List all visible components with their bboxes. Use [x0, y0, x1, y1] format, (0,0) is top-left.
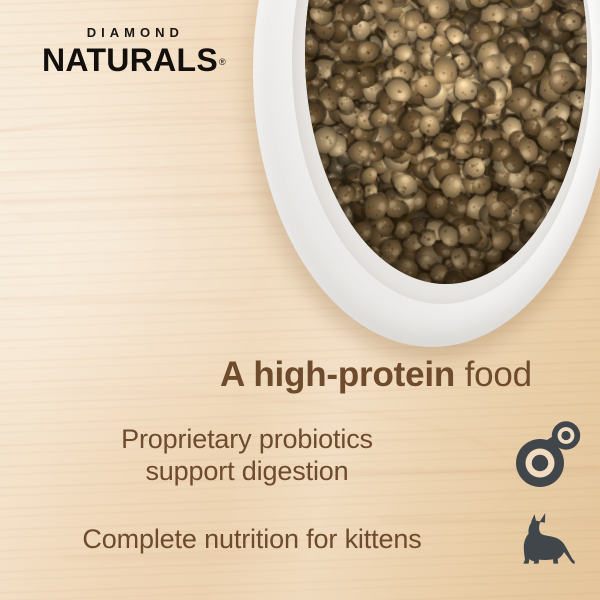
brand-name-naturals-text: NATURALS — [42, 42, 218, 78]
brand-name-diamond: DIAMOND — [42, 26, 225, 39]
claim-probiotics: Proprietary probiotics support digestion — [0, 424, 494, 488]
product-ad-banner: DIAMOND NATURALS® A high-protein food Pr… — [0, 0, 600, 600]
brand-name-naturals: NATURALS® — [42, 44, 225, 76]
claim-kittens: Complete nutrition for kittens — [0, 524, 504, 556]
probiotic-cell-icon — [511, 418, 583, 490]
kitten-silhouette-icon — [514, 511, 584, 569]
claim-kittens-line1: Complete nutrition for kittens — [0, 524, 504, 556]
registered-trademark-icon: ® — [219, 57, 226, 67]
brand-logo: DIAMOND NATURALS® — [42, 26, 225, 76]
claim-probiotics-line2: support digestion — [0, 456, 494, 488]
headline-light: food — [455, 355, 532, 394]
page-title: A high-protein food — [0, 356, 600, 394]
claim-probiotics-line1: Proprietary probiotics — [0, 424, 494, 456]
headline-bold: A high-protein — [220, 355, 455, 394]
